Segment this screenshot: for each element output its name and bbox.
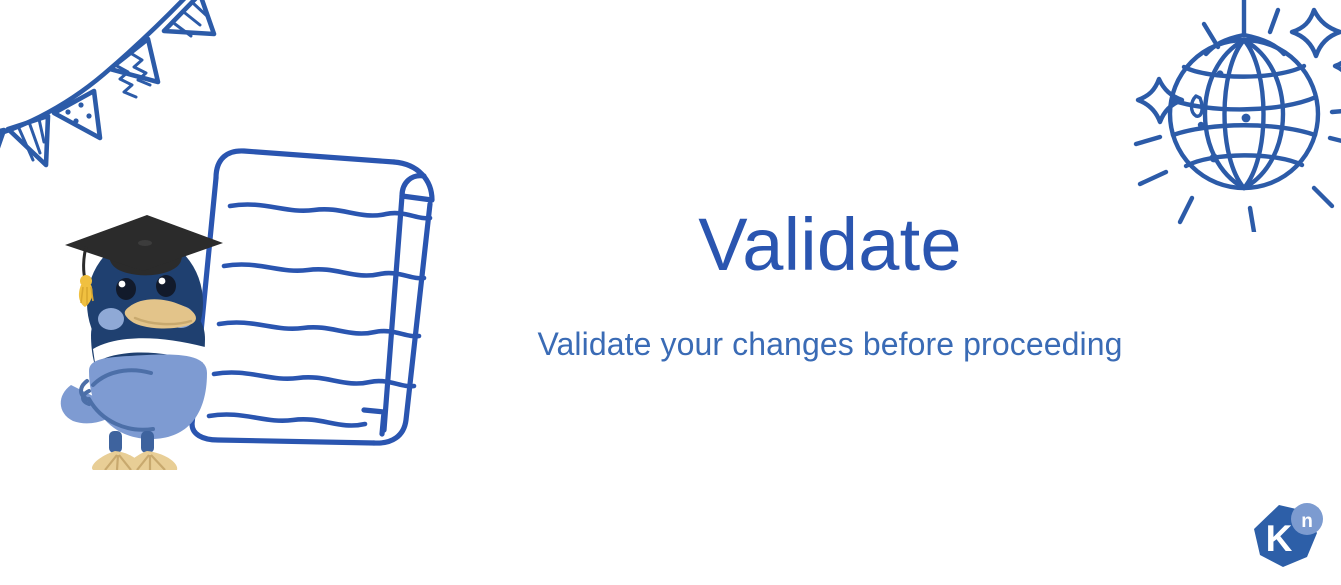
headline-block: Validate Validate your changes before pr… (470, 205, 1190, 363)
bird-mascot (55, 185, 240, 470)
page-title: Validate (470, 205, 1190, 285)
discoball-decoration (1118, 0, 1341, 232)
brand-logo: K n (1249, 499, 1327, 573)
page-subtitle: Validate your changes before proceeding (470, 326, 1190, 363)
logo-badge-letter-n: n (1301, 511, 1313, 532)
logo-letter-k: K (1266, 518, 1293, 559)
scroll-illustration (178, 138, 468, 453)
slide-canvas: Validate Validate your changes before pr… (0, 0, 1341, 585)
bunting-decoration (0, 0, 236, 190)
